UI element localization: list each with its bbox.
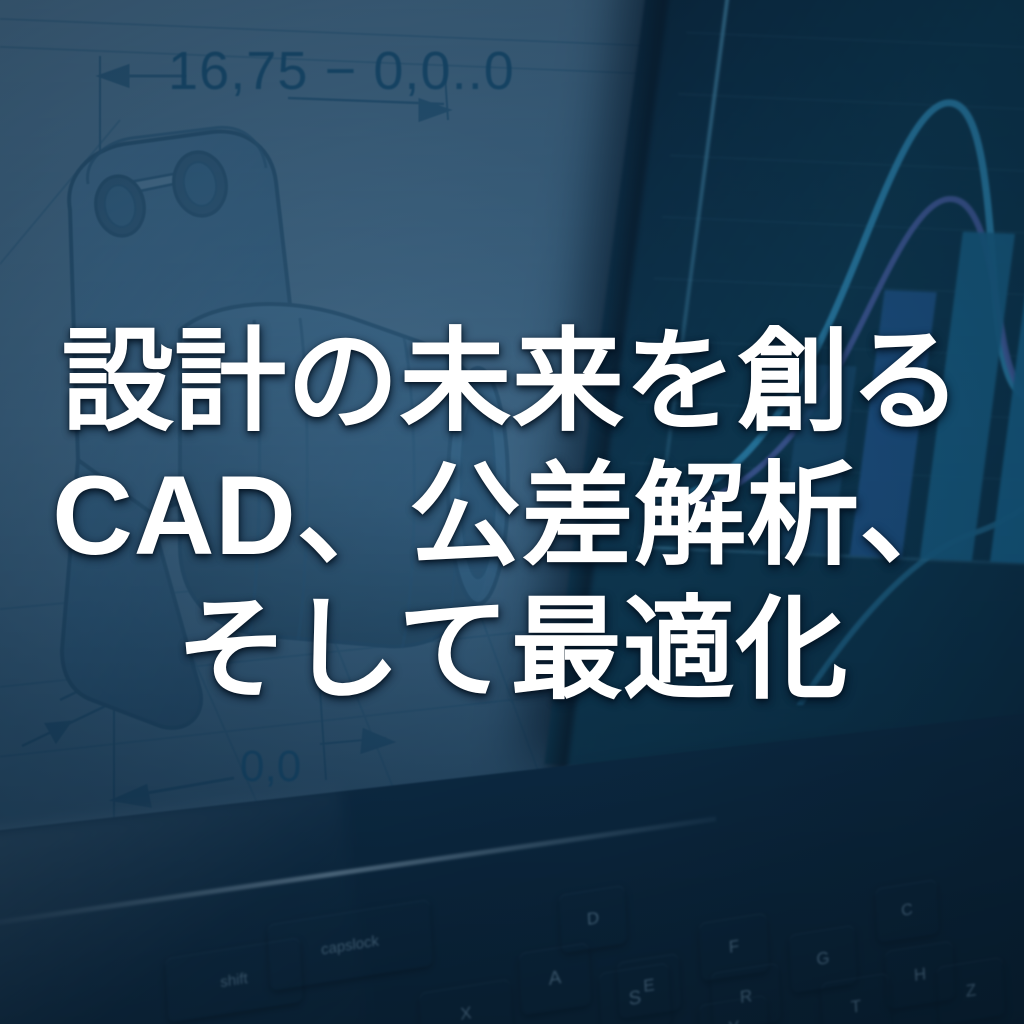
headline-line-1: 設計の未来を創る — [62, 317, 962, 447]
headline-line-2: CAD、公差解析、 — [52, 451, 972, 581]
headline-line-3: そして最適化 — [176, 585, 848, 715]
headline-block: 設計の未来を創る CAD、公差解析、 そして最適化 — [0, 0, 1024, 1024]
hero-banner: shift capslock A S D F G H E R T Y Z X C… — [0, 0, 1024, 1024]
